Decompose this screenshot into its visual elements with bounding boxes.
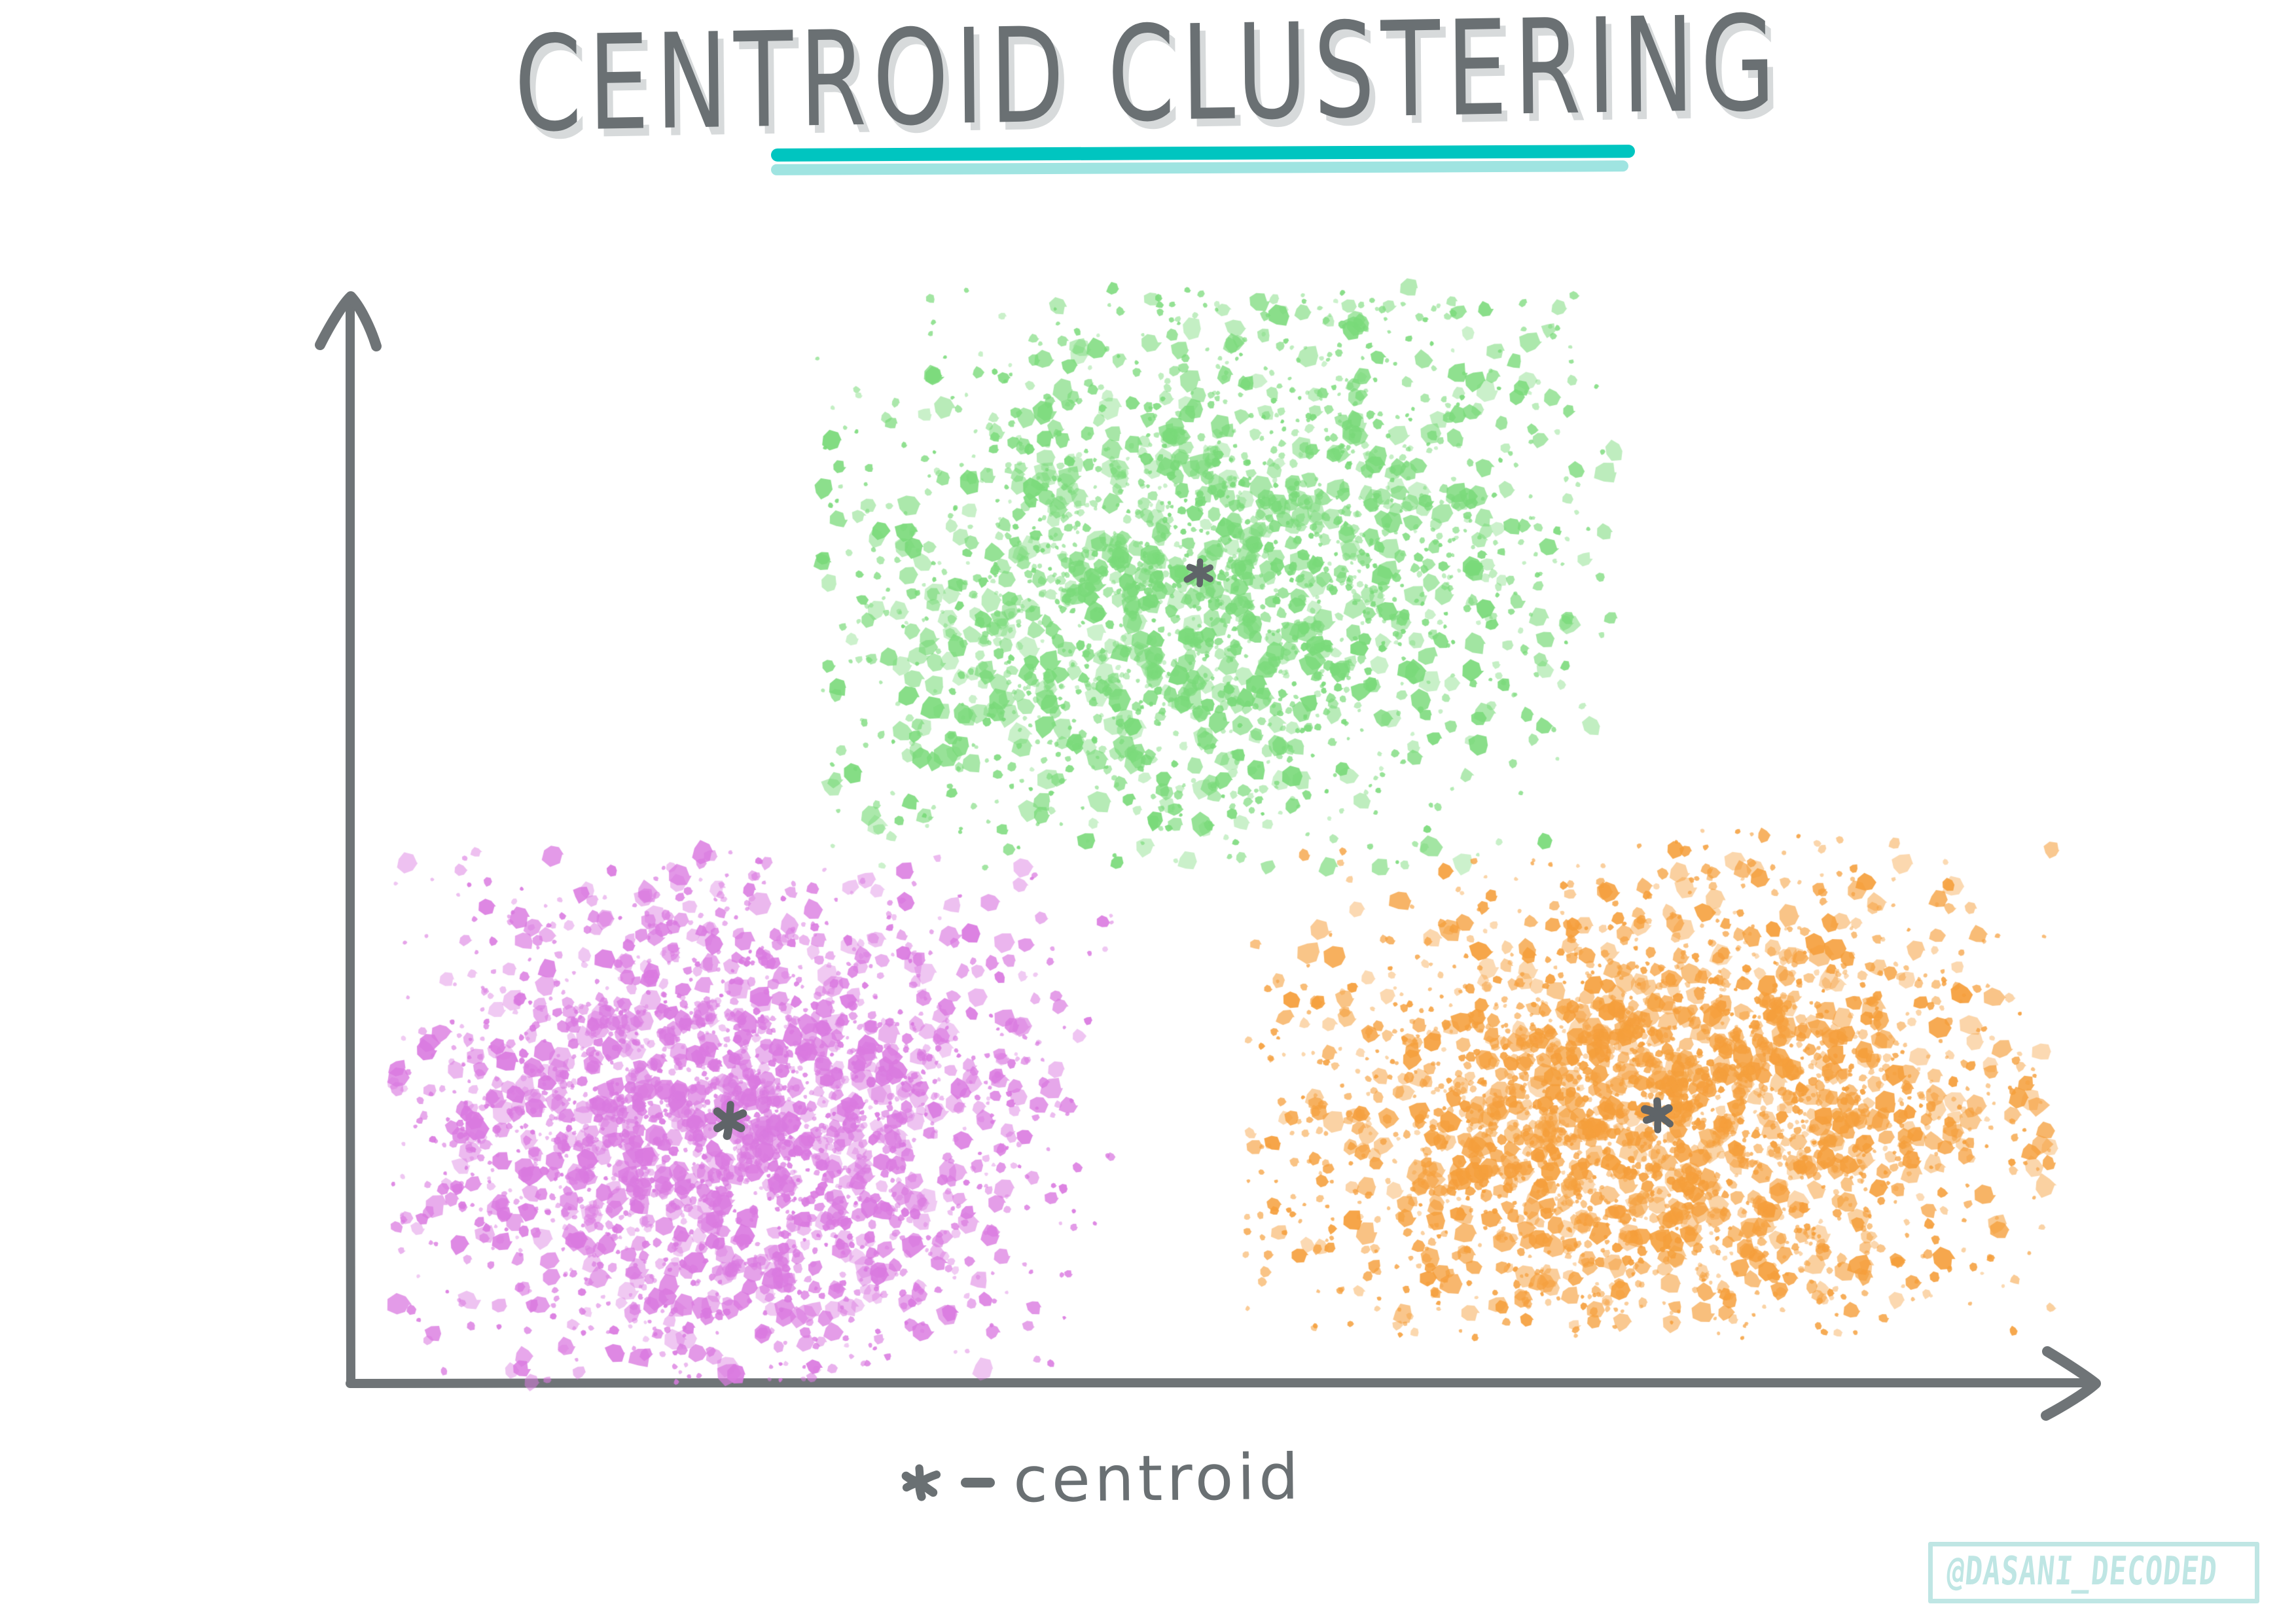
asterisk-icon bbox=[897, 1459, 942, 1505]
watermark-handle: @DASANI_DECODED bbox=[1945, 1548, 2219, 1594]
legend: centroid bbox=[897, 1433, 1302, 1531]
scatter-plot-area bbox=[0, 0, 2296, 1623]
legend-dash-icon bbox=[961, 1478, 995, 1488]
watermark-badge: @DASANI_DECODED bbox=[1928, 1542, 2259, 1603]
cluster-orange bbox=[0, 0, 2296, 1623]
asterisk-icon bbox=[1638, 1095, 1679, 1135]
legend-label: centroid bbox=[1013, 1446, 1303, 1512]
centroid-marker-orange bbox=[1638, 1095, 1679, 1138]
